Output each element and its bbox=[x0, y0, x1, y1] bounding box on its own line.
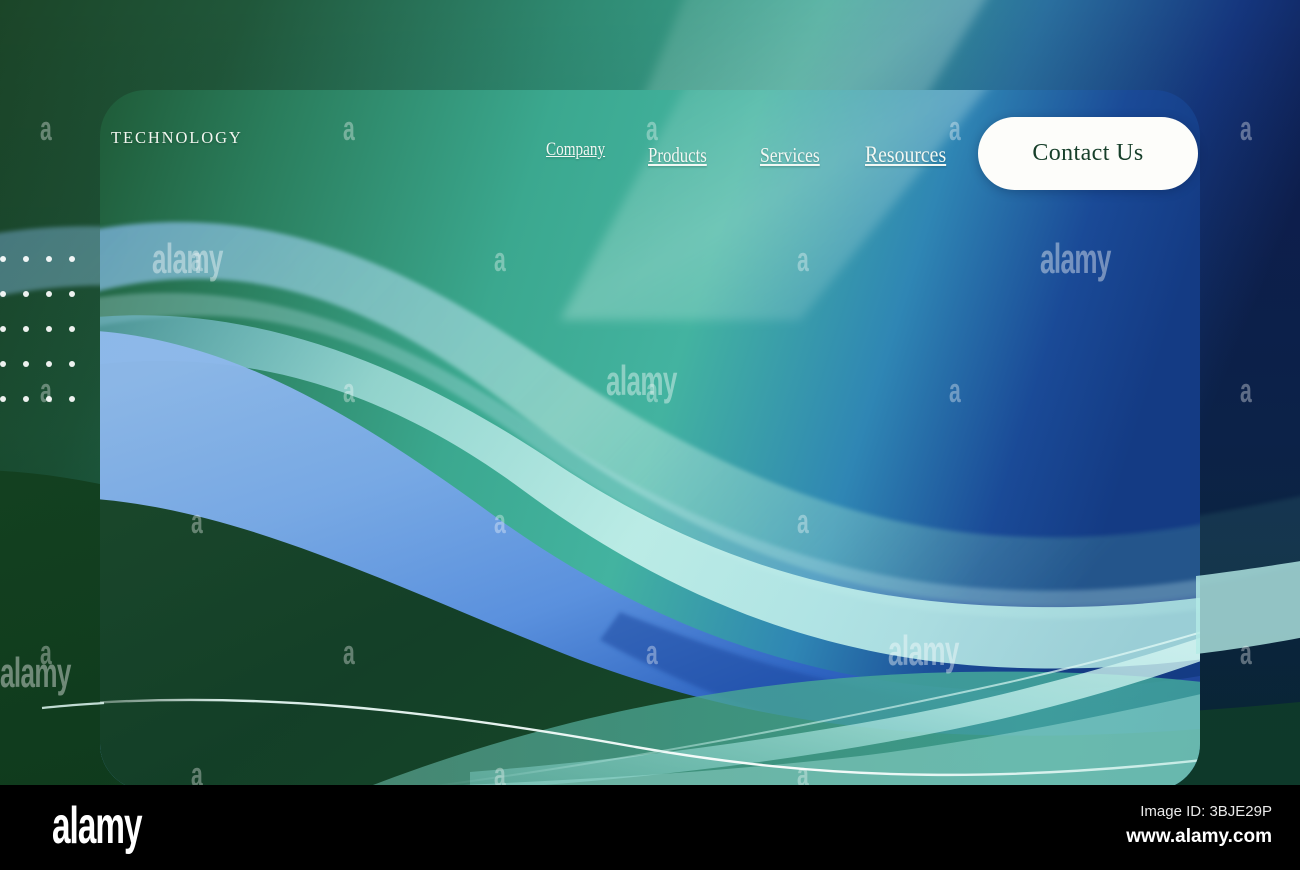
grid-dot bbox=[46, 326, 52, 332]
grid-dot bbox=[69, 326, 75, 332]
grid-dot bbox=[23, 396, 29, 402]
grid-dot bbox=[0, 291, 6, 297]
grid-dot bbox=[0, 361, 6, 367]
contact-us-label: Contact Us bbox=[1032, 140, 1143, 167]
grid-dot bbox=[69, 396, 75, 402]
brand-logo-text[interactable]: TECHNOLOGY bbox=[111, 128, 243, 148]
grid-dot bbox=[23, 326, 29, 332]
grid-dot bbox=[69, 256, 75, 262]
grid-dot bbox=[23, 256, 29, 262]
grid-dot bbox=[23, 291, 29, 297]
screenshot-root: aaaaaaaaaaaaaaaaaaaaaaaalamyalamyalamyal… bbox=[0, 0, 1300, 870]
grid-dot bbox=[46, 396, 52, 402]
alamy-url-label: www.alamy.com bbox=[1126, 826, 1272, 848]
nav-item-company[interactable]: Company bbox=[546, 139, 605, 161]
contact-us-button[interactable]: Contact Us bbox=[978, 117, 1198, 190]
grid-dot bbox=[46, 291, 52, 297]
nav-item-resources[interactable]: Resources bbox=[865, 142, 946, 169]
nav-item-products[interactable]: Products bbox=[648, 143, 707, 168]
image-id-label: Image ID: 3BJE29P bbox=[1140, 803, 1272, 820]
grid-dot bbox=[69, 361, 75, 367]
grid-dot bbox=[0, 396, 6, 402]
alamy-footer-logo: alamy bbox=[52, 800, 142, 852]
alamy-footer-bar bbox=[0, 785, 1300, 870]
grid-dot bbox=[46, 361, 52, 367]
grid-dot bbox=[0, 256, 6, 262]
grid-dot bbox=[0, 326, 6, 332]
nav-item-services[interactable]: Services bbox=[760, 143, 820, 168]
grid-dot bbox=[46, 256, 52, 262]
grid-dot bbox=[23, 361, 29, 367]
grid-dot bbox=[69, 291, 75, 297]
